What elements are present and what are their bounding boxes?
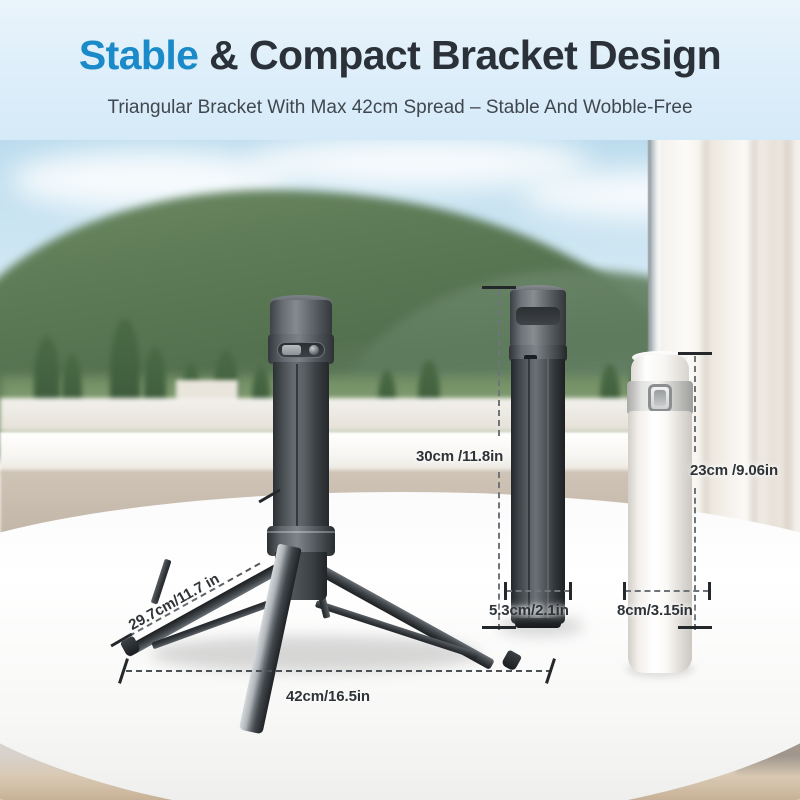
page-title: Stable & Compact Bracket Design: [0, 32, 800, 79]
tripod-head: [270, 300, 332, 336]
dim-tick-top: [678, 352, 712, 355]
product-tripod-folded: [498, 285, 578, 725]
dim-line-bottle-lower: [694, 488, 696, 630]
dim-line-bottle-upper: [694, 356, 696, 452]
product-tripod-open: [110, 300, 550, 700]
page-subtitle: Triangular Bracket With Max 42cm Spread …: [0, 97, 800, 119]
dim-line-spread: [126, 670, 552, 672]
title-rest: & Compact Bracket Design: [198, 32, 721, 78]
dim-line-folded-width: [506, 590, 570, 592]
folded-panel-window: [516, 307, 560, 325]
folded-foot: [515, 618, 561, 628]
dim-tick-bottom: [678, 626, 712, 629]
folded-seam: [547, 359, 549, 623]
folded-seam: [528, 359, 530, 623]
dim-tick-bottom: [482, 626, 516, 629]
dim-tick-left: [623, 582, 626, 600]
tripod-column: [273, 362, 329, 532]
dim-label-bottle-height: 23cm /9.06in: [690, 462, 778, 479]
dim-tick-right: [569, 582, 572, 600]
header-banner: Stable & Compact Bracket Design Triangul…: [0, 0, 800, 140]
dim-label-folded-height: 30cm /11.8in: [416, 448, 503, 465]
product-infographic: 30cm /11.8in 23cm /9.06in 5.3cm/2.1in 8c…: [0, 0, 800, 800]
dim-line-folded-upper: [498, 290, 500, 436]
power-switch[interactable]: [282, 345, 301, 355]
product-thermos-bottle: [618, 355, 704, 725]
folded-body: [511, 359, 565, 624]
curtain-fold: [748, 140, 760, 568]
dim-tick-left: [504, 582, 507, 600]
thermos-body: [628, 411, 692, 673]
tripod-column-seam: [296, 364, 298, 530]
dim-label-spread: 42cm/16.5in: [286, 688, 370, 705]
dim-tick-top: [482, 286, 516, 289]
dim-line-bottle-width: [625, 590, 709, 592]
photo-scene: 30cm /11.8in 23cm /9.06in 5.3cm/2.1in 8c…: [0, 140, 800, 800]
dim-tick-right: [708, 582, 711, 600]
tripod-collar-highlight: [267, 531, 335, 533]
dim-label-bottle-width: 8cm/3.15in: [617, 602, 693, 619]
curtain-fold: [782, 140, 794, 568]
title-accent-word: Stable: [79, 32, 198, 78]
dim-label-folded-width: 5.3cm/2.1in: [489, 602, 569, 619]
thermos-latch-inner: [654, 390, 666, 406]
mode-button[interactable]: [309, 345, 319, 355]
